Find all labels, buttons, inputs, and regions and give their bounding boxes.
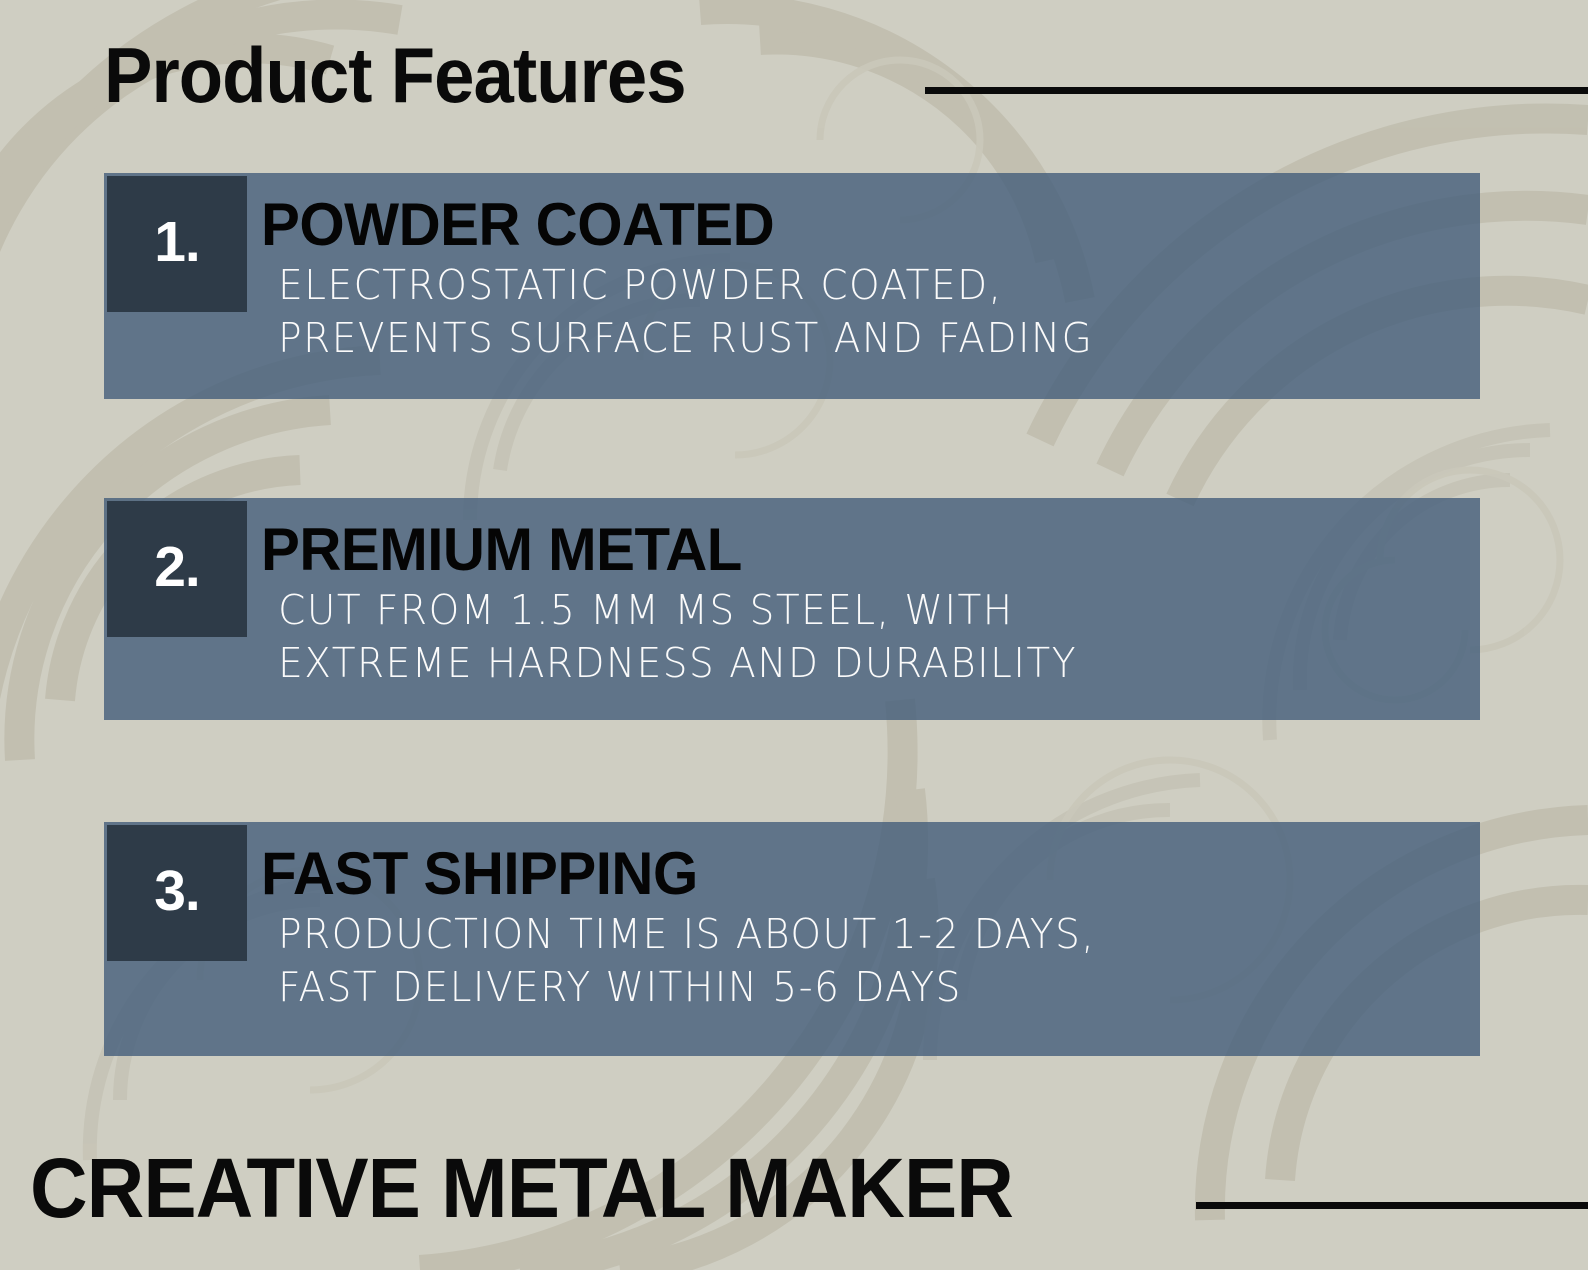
footer-brand-name: CREATIVE METAL MAKER	[30, 1146, 1013, 1230]
feature-description-line: PREVENTS SURFACE RUST AND FADING	[278, 312, 1415, 365]
feature-description-line: EXTREME HARDNESS AND DURABILITY	[278, 637, 1415, 690]
feature-number-box: 2.	[107, 501, 247, 637]
feature-description-line: PRODUCTION TIME IS ABOUT 1-2 DAYS,	[278, 908, 1415, 961]
feature-block-2: 2. PREMIUM METAL CUT FROM 1.5 MM MS STEE…	[104, 498, 1480, 720]
feature-heading: FAST SHIPPING	[261, 822, 1440, 904]
footer-rule-divider	[1196, 1202, 1588, 1209]
poster-canvas: Product Features 1. POWDER COATED ELECTR…	[0, 0, 1588, 1270]
feature-text-group: POWDER COATED ELECTROSTATIC POWDER COATE…	[261, 173, 1476, 366]
feature-number-box: 1.	[107, 176, 247, 312]
feature-number: 2.	[154, 539, 200, 596]
feature-description-line: FAST DELIVERY WITHIN 5-6 DAYS	[278, 961, 1415, 1014]
footer: CREATIVE METAL MAKER	[0, 1140, 1588, 1270]
feature-description-line: CUT FROM 1.5 MM MS STEEL, WITH	[278, 584, 1415, 637]
feature-heading: POWDER COATED	[261, 173, 1440, 255]
feature-text-group: PREMIUM METAL CUT FROM 1.5 MM MS STEEL, …	[261, 498, 1476, 691]
feature-number: 1.	[154, 214, 200, 271]
header: Product Features	[0, 0, 1588, 150]
feature-description: ELECTROSTATIC POWDER COATED, PREVENTS SU…	[261, 255, 1415, 366]
feature-description-line: ELECTROSTATIC POWDER COATED,	[278, 259, 1415, 312]
title-rule-divider	[925, 87, 1588, 94]
feature-description: PRODUCTION TIME IS ABOUT 1-2 DAYS, FAST …	[261, 904, 1415, 1015]
feature-block-3: 3. FAST SHIPPING PRODUCTION TIME IS ABOU…	[104, 822, 1480, 1056]
feature-block-1: 1. POWDER COATED ELECTROSTATIC POWDER CO…	[104, 173, 1480, 399]
feature-number-box: 3.	[107, 825, 247, 961]
page-title: Product Features	[104, 36, 686, 114]
feature-text-group: FAST SHIPPING PRODUCTION TIME IS ABOUT 1…	[261, 822, 1476, 1015]
feature-heading: PREMIUM METAL	[261, 498, 1440, 580]
feature-number: 3.	[154, 863, 200, 920]
feature-description: CUT FROM 1.5 MM MS STEEL, WITH EXTREME H…	[261, 580, 1415, 691]
